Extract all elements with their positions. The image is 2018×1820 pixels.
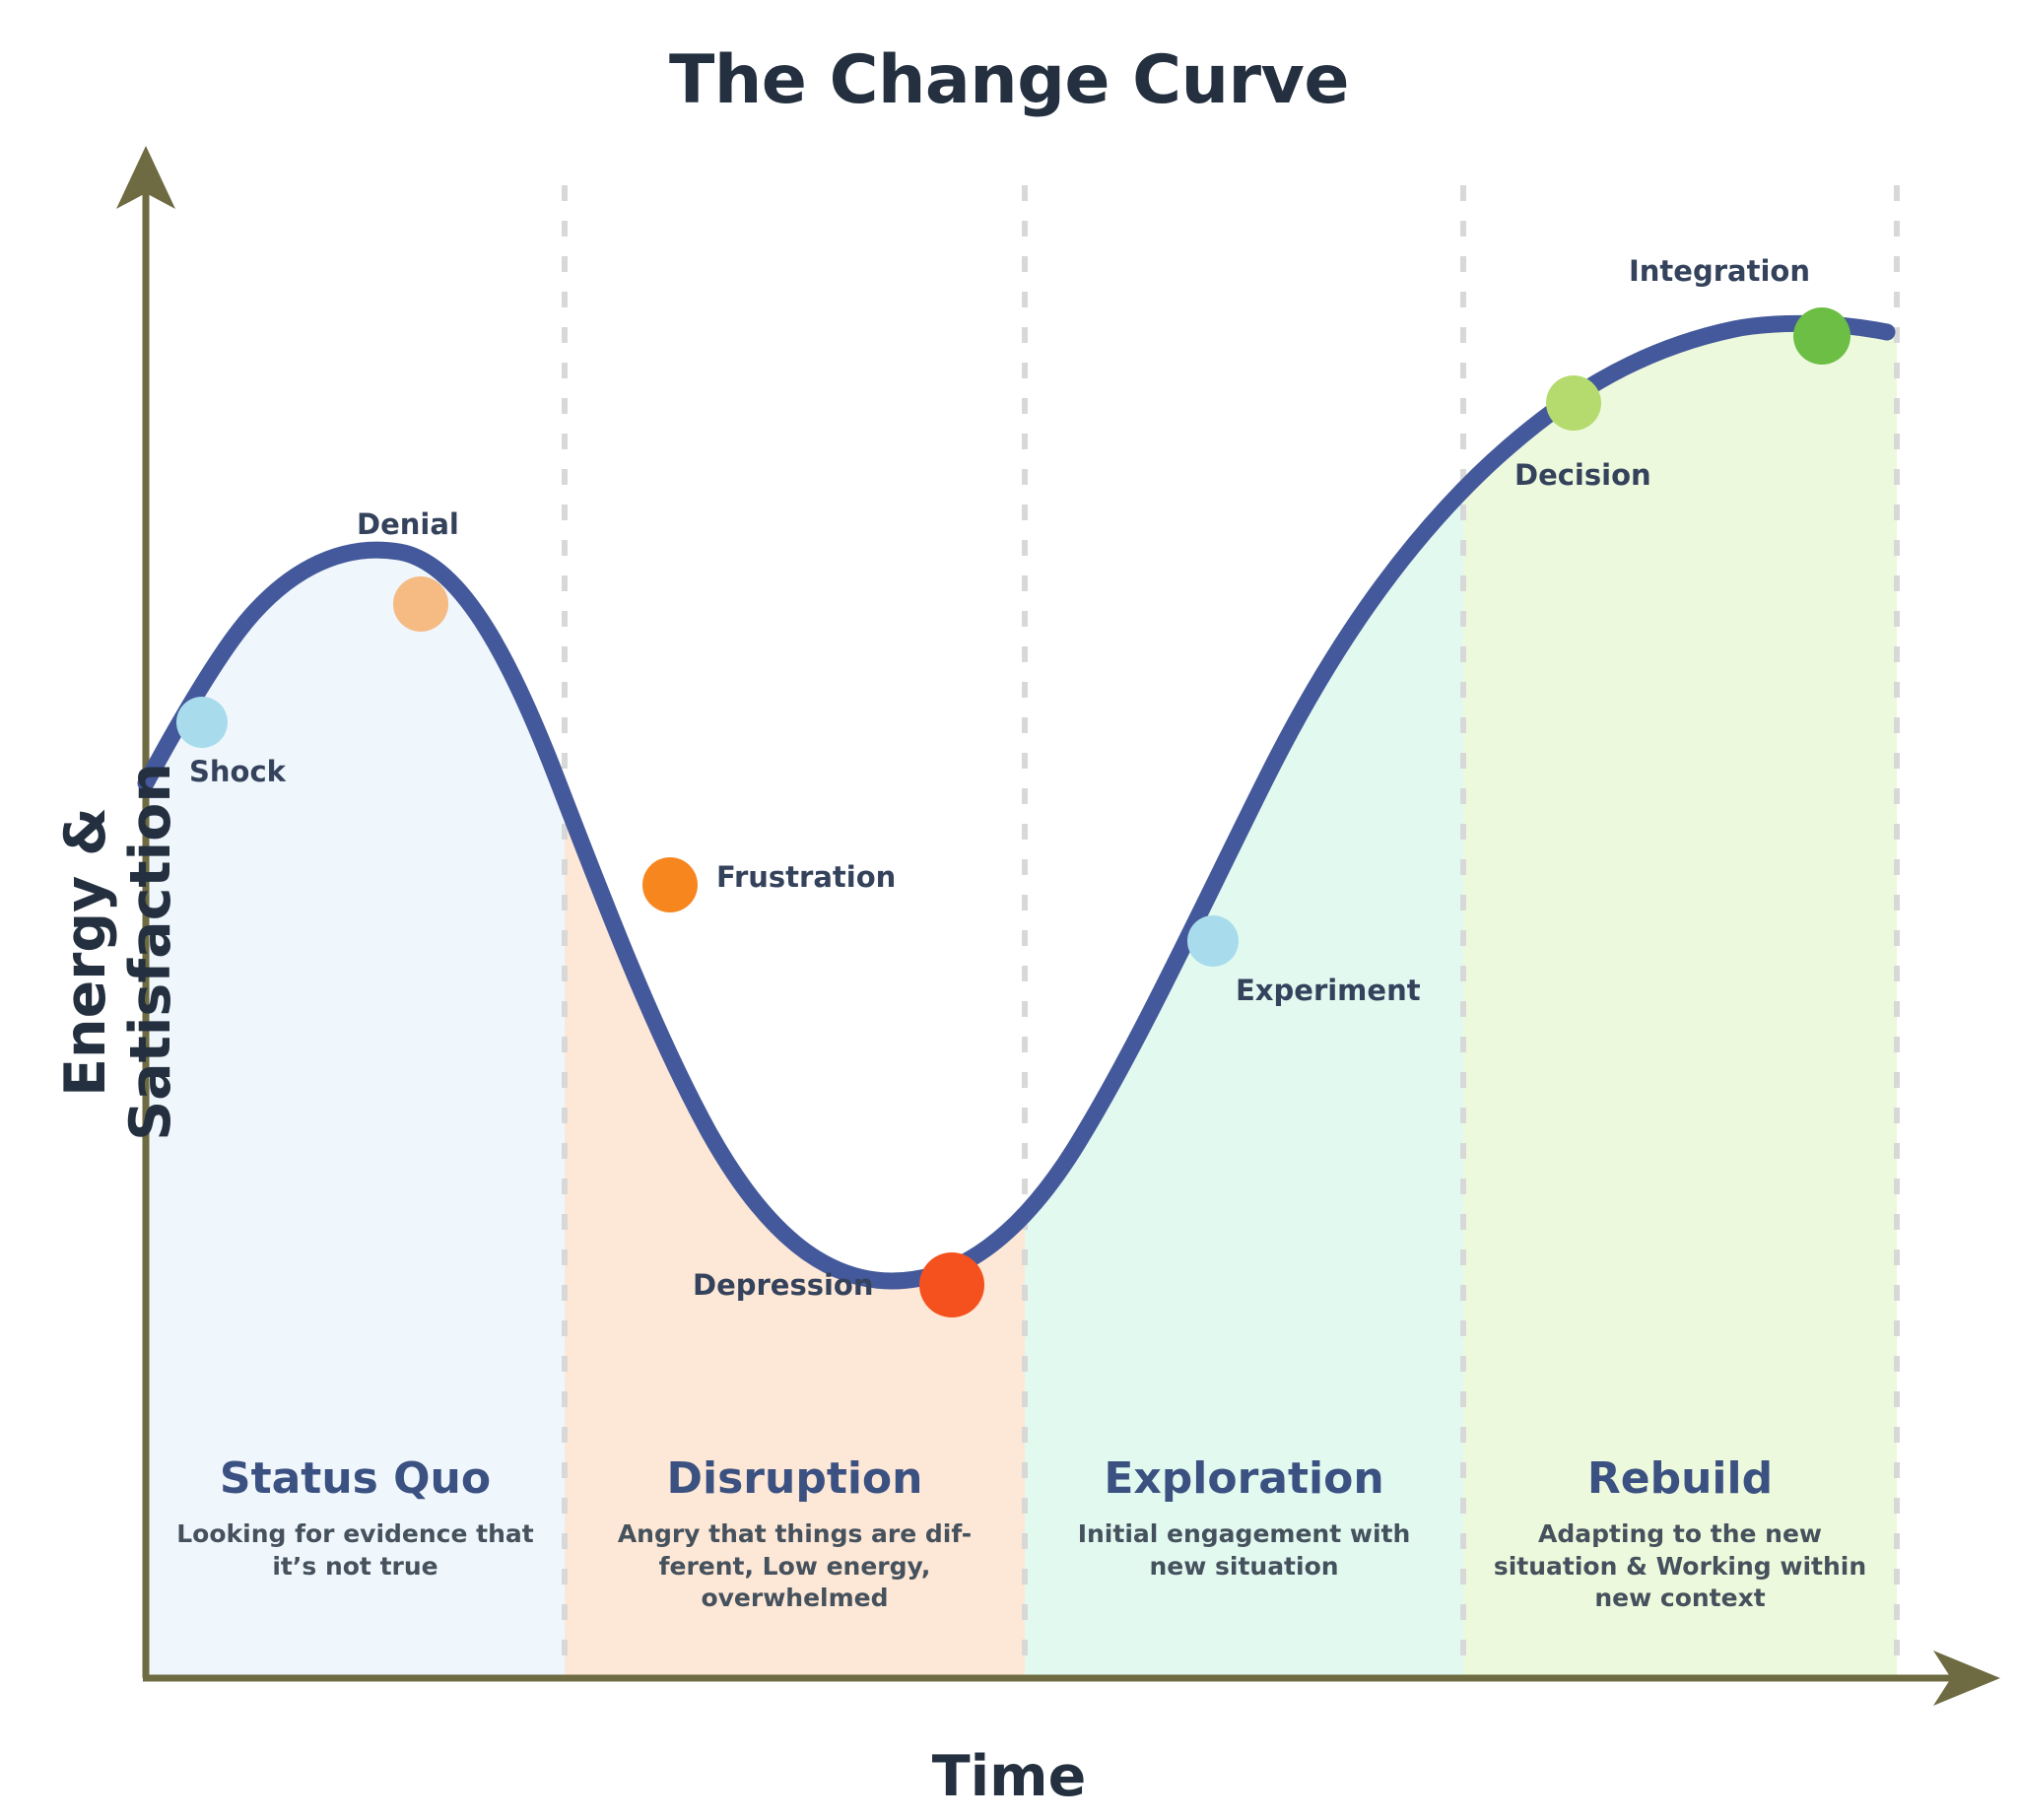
stage-name-disruption: Disruption	[565, 1456, 1025, 1502]
marker-integration	[1793, 307, 1850, 365]
point-label-denial: Denial	[357, 507, 459, 541]
stage-desc-line: ferent, Low energy,	[565, 1551, 1025, 1584]
stage-desc-status-quo: Looking for evidence that it’s not true	[146, 1518, 565, 1583]
stage-disruption: Disruption Angry that things are dif- fe…	[565, 1456, 1025, 1615]
marker-frustration	[642, 857, 698, 912]
stage-desc-line: situation & Working within	[1463, 1551, 1897, 1584]
marker-depression	[919, 1252, 984, 1317]
stage-exploration: Exploration Initial engagement with new …	[1025, 1456, 1463, 1583]
stage-name-status-quo: Status Quo	[146, 1456, 565, 1502]
point-label-decision: Decision	[1514, 458, 1651, 492]
marker-shock	[176, 697, 228, 748]
stage-desc-line: Initial engagement with	[1025, 1518, 1463, 1551]
stage-desc-line: new situation	[1025, 1551, 1463, 1584]
x-axis-label: Time	[0, 1744, 2018, 1809]
marker-decision	[1546, 375, 1601, 431]
stage-status-quo: Status Quo Looking for evidence that it’…	[146, 1456, 565, 1583]
stage-desc-line: new context	[1463, 1583, 1897, 1615]
point-label-frustration: Frustration	[716, 860, 896, 894]
y-axis-label: Energy & Satisfaction	[53, 646, 183, 1257]
stage-desc-line: Angry that things are dif-	[565, 1518, 1025, 1551]
marker-experiment	[1187, 915, 1239, 967]
point-label-depression: Depression	[693, 1268, 874, 1302]
stage-desc-line: overwhelmed	[565, 1583, 1025, 1615]
stage-desc-exploration: Initial engagement with new situation	[1025, 1518, 1463, 1583]
stage-name-rebuild: Rebuild	[1463, 1456, 1897, 1502]
change-curve-diagram: The Change Curve Energy & Satisfaction T…	[0, 0, 2018, 1820]
point-label-shock: Shock	[189, 755, 286, 788]
stage-name-exploration: Exploration	[1025, 1456, 1463, 1502]
stage-rebuild: Rebuild Adapting to the new situation & …	[1463, 1456, 1897, 1615]
stage-desc-rebuild: Adapting to the new situation & Working …	[1463, 1518, 1897, 1615]
marker-denial	[393, 576, 448, 632]
stage-desc-line: Looking for evidence that	[146, 1518, 565, 1551]
stage-desc-line: it’s not true	[146, 1551, 565, 1584]
point-label-integration: Integration	[1629, 254, 1810, 288]
stage-desc-line: Adapting to the new	[1463, 1518, 1897, 1551]
point-label-experiment: Experiment	[1236, 974, 1421, 1007]
stage-desc-disruption: Angry that things are dif- ferent, Low e…	[565, 1518, 1025, 1615]
